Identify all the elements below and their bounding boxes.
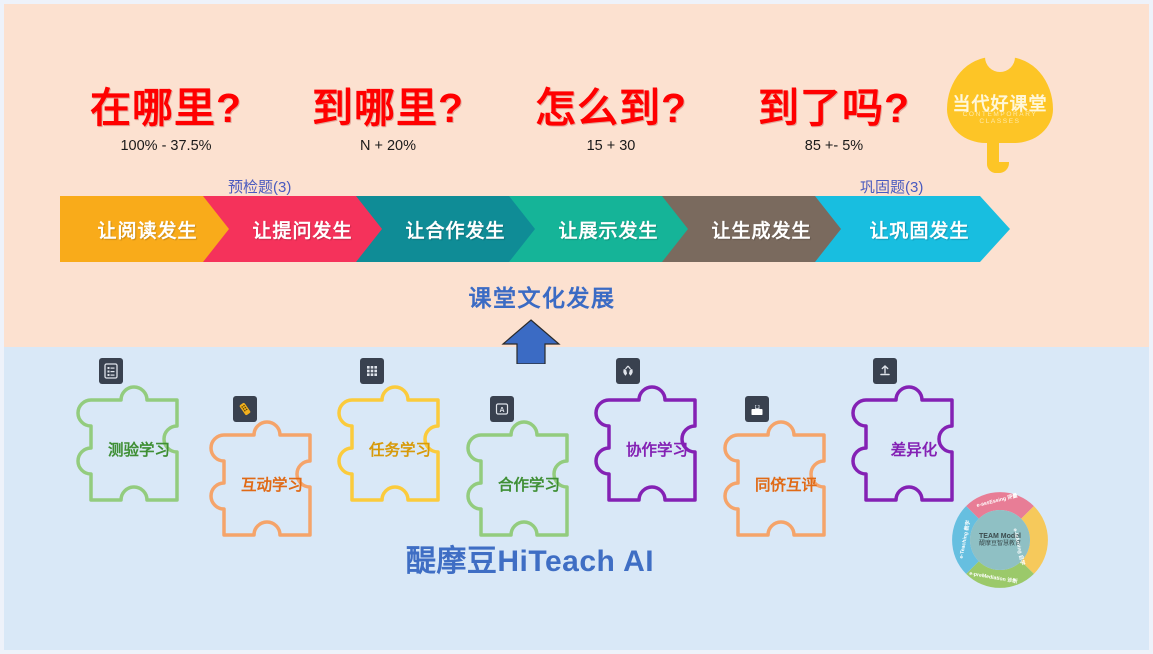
contemporary-classes-logo: 当代好课堂 CONTEMPORARY CLASSES — [941, 57, 1059, 179]
puzzle-label: 差异化 — [838, 438, 990, 460]
upward-arrow-icon — [500, 318, 562, 364]
process-arrow-3[interactable]: 让合作发生 — [356, 196, 541, 262]
puzzle-piece-assessment[interactable]: 测验学习 — [63, 390, 215, 510]
leaf-trunk — [987, 135, 999, 173]
logo-title-en: CONTEMPORARY CLASSES — [941, 111, 1059, 125]
checklist-icon — [99, 358, 123, 384]
vote-box-icon — [745, 396, 769, 422]
upload-icon — [873, 358, 897, 384]
product-brand-title: 醍摩豆HiTeach AI — [330, 536, 730, 580]
process-arrow-6[interactable]: 让巩固发生 — [815, 196, 1010, 262]
svg-text:A: A — [499, 407, 504, 414]
process-arrow-2[interactable]: 让提问发生 — [203, 196, 388, 262]
grid-icon — [360, 358, 384, 384]
question-title: 到哪里? — [298, 88, 478, 129]
team-model-badge: TEAM Model 醍摩豆智慧教育 e-assEssing 评量 e-leAr… — [949, 489, 1051, 591]
process-arrow-1[interactable]: 让阅读发生 — [60, 196, 235, 262]
question-block-2: 到哪里? N + 20% — [298, 88, 478, 154]
step-note-pretest: 预检题(3) — [228, 176, 291, 197]
puzzle-label: 测验学习 — [63, 438, 215, 460]
question-subtitle: N + 20% — [298, 138, 478, 154]
hands-icon — [616, 358, 640, 384]
question-title: 怎么到? — [521, 88, 701, 129]
question-block-1: 在哪里? 100% - 37.5% — [76, 88, 256, 154]
process-arrow-5[interactable]: 让生成发生 — [662, 196, 847, 262]
slide-canvas: 在哪里? 100% - 37.5% 到哪里? N + 20% 怎么到? 15 +… — [0, 0, 1153, 654]
step-note-consolidation: 巩固题(3) — [860, 176, 923, 197]
question-subtitle: 85 +- 5% — [744, 138, 924, 154]
process-arrow-4[interactable]: 让展示发生 — [509, 196, 694, 262]
question-block-3: 怎么到? 15 + 30 — [521, 88, 701, 154]
question-title: 在哪里? — [76, 88, 256, 129]
question-block-4: 到了吗? 85 +- 5% — [744, 88, 924, 154]
culture-development-label: 课堂文化发展 — [437, 279, 647, 313]
question-subtitle: 15 + 30 — [521, 138, 701, 154]
question-title: 到了吗? — [744, 88, 924, 129]
question-subtitle: 100% - 37.5% — [76, 138, 256, 154]
ai-card-icon: A — [490, 396, 514, 422]
clicker-icon — [233, 396, 257, 422]
